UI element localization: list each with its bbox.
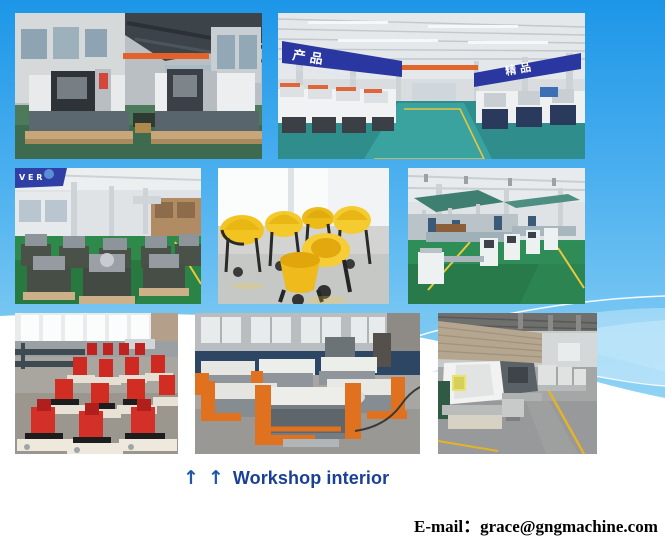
slide-root: 产 品 PRODUCTS MAKE CHINESE PROUD 精 品 <box>0 0 665 537</box>
photo-assembly-hall-banners[interactable]: 产 品 PRODUCTS MAKE CHINESE PROUD 精 品 <box>278 13 585 159</box>
svg-text:V E R: V E R <box>19 173 42 182</box>
photo-assembly-line-canopy[interactable] <box>408 168 585 304</box>
photo-yellow-concrete-mixers[interactable] <box>218 168 389 304</box>
up-arrow-icon-1: ↑ <box>183 469 199 488</box>
photo-orange-frame-machines[interactable] <box>195 313 420 454</box>
caption-label: Workshop interior <box>233 468 389 489</box>
photo-red-machines-pallets[interactable] <box>15 313 178 454</box>
photo-green-floor-machines[interactable]: V E R <box>15 168 201 304</box>
photo-cnc-lathes-crated[interactable] <box>15 13 262 159</box>
workshop-interior-caption: ↑ ↑ Workshop interior <box>183 468 389 489</box>
photo-cnc-line-warehouse[interactable] <box>438 313 597 454</box>
contact-email[interactable]: E-mail：grace@gngmachine.com <box>414 512 658 537</box>
up-arrow-icon-2: ↑ <box>208 469 224 488</box>
